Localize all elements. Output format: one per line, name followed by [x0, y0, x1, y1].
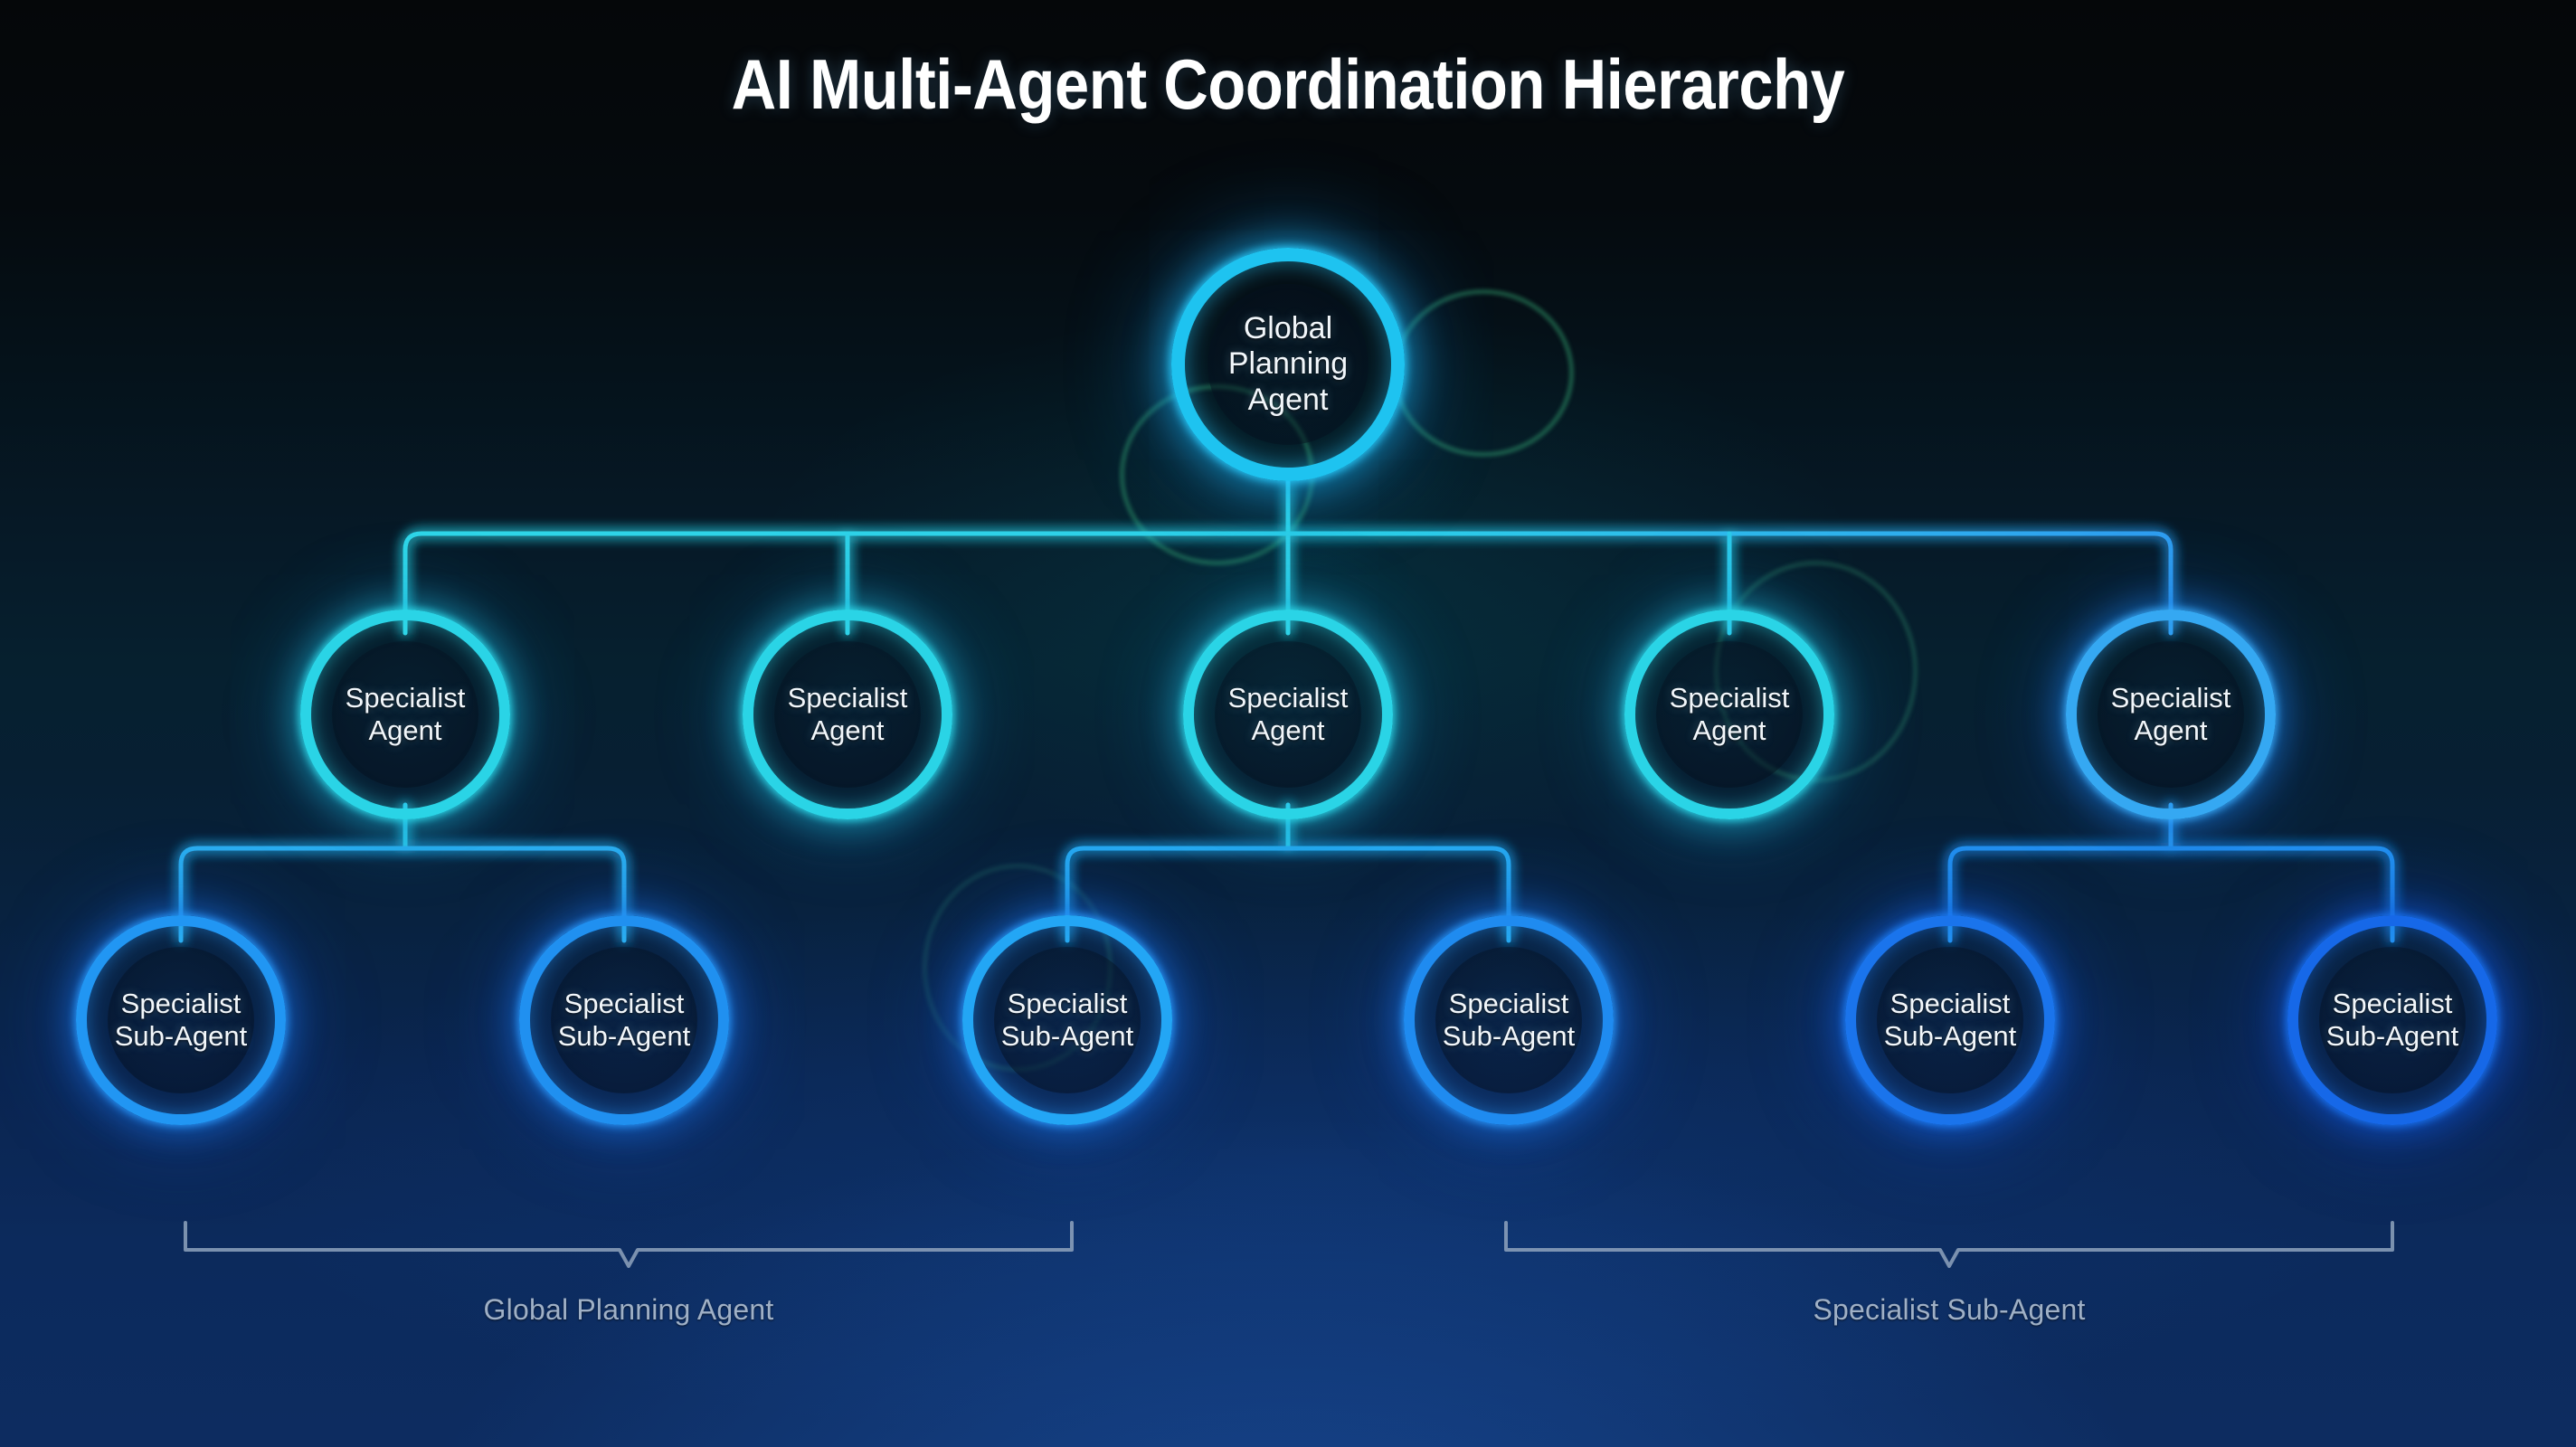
- bracket-label-right: Specialist Sub-Agent: [1813, 1293, 2085, 1327]
- node-specialist-agent-3[interactable]: Specialist Agent: [1183, 610, 1393, 819]
- node-label: Global Planning Agent: [1228, 311, 1348, 418]
- bracket-left: [185, 1223, 1072, 1266]
- node-label: Specialist Sub-Agent: [1884, 988, 2017, 1053]
- node-label: Specialist Sub-Agent: [115, 988, 248, 1053]
- node-label: Specialist Agent: [1670, 682, 1790, 747]
- node-specialist-sub-agent-6[interactable]: Specialist Sub-Agent: [2287, 915, 2497, 1125]
- node-global-planning-agent[interactable]: Global Planning Agent: [1171, 248, 1405, 481]
- node-specialist-sub-agent-2[interactable]: Specialist Sub-Agent: [519, 915, 729, 1125]
- bracket-right: [1506, 1223, 2392, 1266]
- node-specialist-agent-4[interactable]: Specialist Agent: [1624, 610, 1834, 819]
- node-specialist-agent-2[interactable]: Specialist Agent: [743, 610, 952, 819]
- bracket-label-left: Global Planning Agent: [484, 1293, 774, 1327]
- node-label: Specialist Sub-Agent: [1001, 988, 1134, 1053]
- node-label: Specialist Agent: [1228, 682, 1349, 747]
- node-label: Specialist Sub-Agent: [2326, 988, 2459, 1053]
- node-specialist-agent-1[interactable]: Specialist Agent: [300, 610, 510, 819]
- node-specialist-sub-agent-1[interactable]: Specialist Sub-Agent: [76, 915, 286, 1125]
- diagram-canvas: AI Multi-Agent Coordination Hierarchy: [0, 0, 2576, 1447]
- node-specialist-sub-agent-5[interactable]: Specialist Sub-Agent: [1845, 915, 2055, 1125]
- node-label: Specialist Sub-Agent: [558, 988, 691, 1053]
- node-label: Specialist Agent: [2111, 682, 2231, 747]
- node-label: Specialist Agent: [346, 682, 466, 747]
- node-specialist-agent-5[interactable]: Specialist Agent: [2066, 610, 2276, 819]
- node-specialist-sub-agent-3[interactable]: Specialist Sub-Agent: [962, 915, 1172, 1125]
- node-specialist-sub-agent-4[interactable]: Specialist Sub-Agent: [1404, 915, 1614, 1125]
- node-label: Specialist Agent: [788, 682, 908, 747]
- node-label: Specialist Sub-Agent: [1443, 988, 1576, 1053]
